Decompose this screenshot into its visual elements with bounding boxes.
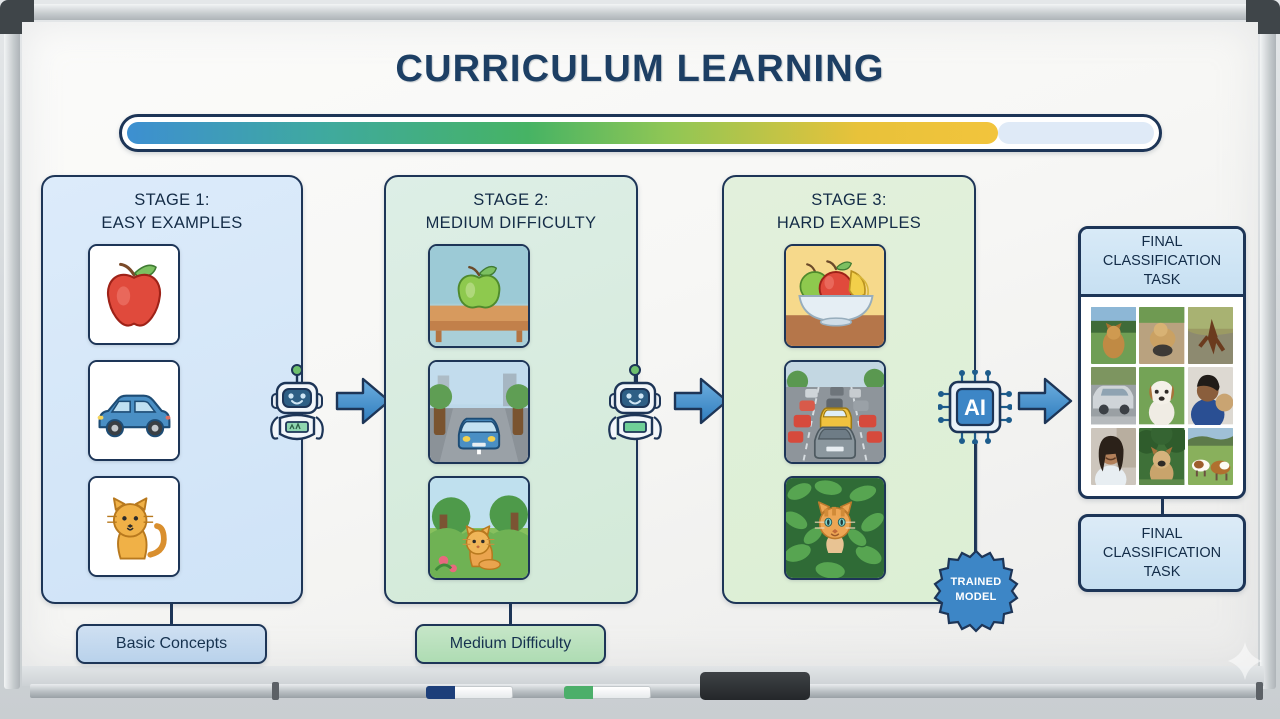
final-classification-footer[interactable]: FINAL CLASSIFICATION TASK bbox=[1078, 514, 1246, 592]
curriculum-progress-bar[interactable] bbox=[119, 114, 1162, 152]
sparkle-watermark bbox=[1228, 642, 1262, 680]
stage-3-title-line2: HARD EXAMPLES bbox=[777, 214, 921, 232]
robot-icon-stage1 bbox=[264, 364, 330, 450]
trained-model-badge: TRAINED MODEL bbox=[932, 549, 1020, 637]
trained-model-line2: MODEL bbox=[955, 591, 996, 603]
photo-person-smiling[interactable] bbox=[1091, 428, 1136, 485]
stage-1-chip-label: Basic Concepts bbox=[76, 624, 267, 664]
photo-dog-jumping[interactable] bbox=[1188, 307, 1233, 364]
tray-clip-left bbox=[272, 682, 279, 700]
stage-1-title-line2: EASY EXAMPLES bbox=[101, 214, 242, 232]
thumbnail-car[interactable] bbox=[88, 360, 180, 461]
thumbnail-cat-in-garden[interactable] bbox=[428, 476, 530, 580]
final-panel-header: FINAL CLASSIFICATION TASK bbox=[1081, 229, 1243, 297]
progress-bar-remaining bbox=[998, 122, 1154, 144]
thumbnail-cat[interactable] bbox=[88, 476, 180, 577]
photo-silver-car[interactable] bbox=[1091, 367, 1136, 424]
stage-3-title-line1: STAGE 3: bbox=[811, 191, 886, 209]
blue-marker-cap bbox=[426, 686, 455, 699]
pen-tray-shelf bbox=[22, 666, 1264, 686]
photo-person-with-dog[interactable] bbox=[1188, 367, 1233, 424]
thumbnail-car-on-road[interactable] bbox=[428, 360, 530, 464]
trained-model-badge-text: TRAINED MODEL bbox=[932, 575, 1020, 605]
thumbnail-camouflaged-cat[interactable] bbox=[784, 476, 886, 580]
photo-dog-in-bushes[interactable] bbox=[1139, 428, 1184, 485]
stage-2-chip-label: Medium Difficulty bbox=[415, 624, 606, 664]
final-header-line2: CLASSIFICATION bbox=[1103, 253, 1221, 269]
stage-2-chip-stem bbox=[509, 604, 512, 625]
stage-2-title-line2: MEDIUM DIFFICULTY bbox=[426, 214, 597, 232]
ai-chip-icon: AI bbox=[938, 370, 1012, 444]
progress-bar-fill bbox=[127, 122, 998, 144]
photo-cows-in-field[interactable] bbox=[1188, 428, 1233, 485]
thumbnail-apple-on-table[interactable] bbox=[428, 244, 530, 348]
blue-marker[interactable] bbox=[426, 686, 513, 699]
final-header-line1: FINAL bbox=[1141, 234, 1182, 250]
final-footer-line1: FINAL bbox=[1141, 526, 1182, 542]
eraser[interactable] bbox=[700, 672, 810, 700]
thumbnail-apple[interactable] bbox=[88, 244, 180, 345]
photo-dog-running[interactable] bbox=[1139, 307, 1184, 364]
final-footer-line2: CLASSIFICATION bbox=[1103, 545, 1221, 561]
photo-dog-portrait[interactable] bbox=[1139, 367, 1184, 424]
robot-icon-stage2 bbox=[602, 364, 668, 450]
frame-rail-right bbox=[1260, 4, 1276, 689]
final-photo-grid bbox=[1091, 307, 1233, 485]
photo-dog-on-grass[interactable] bbox=[1091, 307, 1136, 364]
thumbnail-traffic-jam[interactable] bbox=[784, 360, 886, 464]
stage-1-title-line1: STAGE 1: bbox=[134, 191, 209, 209]
ai-chip-label: AI bbox=[964, 395, 986, 420]
final-header-line3: TASK bbox=[1144, 272, 1181, 288]
green-marker-cap bbox=[564, 686, 593, 699]
frame-rail-top bbox=[4, 4, 1276, 20]
tray-clip-right bbox=[1256, 682, 1263, 700]
stage-1-title: STAGE 1: EASY EXAMPLES bbox=[43, 189, 301, 235]
trained-model-line1: TRAINED bbox=[951, 576, 1002, 588]
green-marker[interactable] bbox=[564, 686, 651, 699]
thumbnail-fruit-bowl[interactable] bbox=[784, 244, 886, 348]
final-classification-panel[interactable]: FINAL CLASSIFICATION TASK bbox=[1078, 226, 1246, 499]
page-title: CURRICULUM LEARNING bbox=[0, 48, 1280, 91]
final-panel-stem bbox=[1161, 499, 1164, 515]
stage-2-title-line1: STAGE 2: bbox=[473, 191, 548, 209]
frame-rail-left bbox=[4, 4, 20, 689]
stage-2-title: STAGE 2: MEDIUM DIFFICULTY bbox=[386, 189, 636, 235]
stage-3-title: STAGE 3: HARD EXAMPLES bbox=[724, 189, 974, 235]
stage-panel-2[interactable]: STAGE 2: MEDIUM DIFFICULTY bbox=[384, 175, 638, 604]
final-footer-line3: TASK bbox=[1144, 564, 1181, 580]
stage-1-chip-stem bbox=[170, 604, 173, 625]
